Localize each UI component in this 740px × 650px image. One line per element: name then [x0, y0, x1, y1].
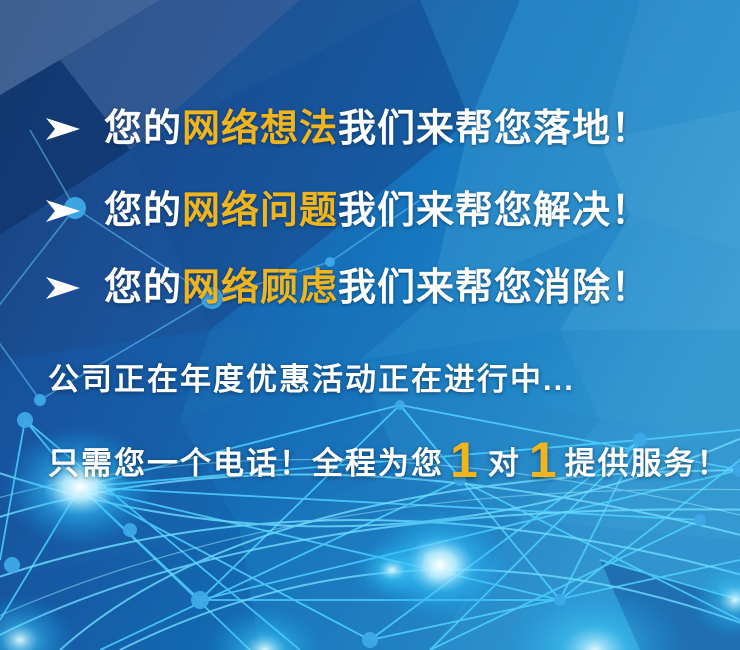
service-number-first: 1 [444, 435, 486, 485]
arrow-right-icon [44, 273, 84, 303]
headline-highlight-1: 网络想法 [182, 108, 338, 150]
headline-text-2: 您的网络问题我们来帮您解决！ [104, 192, 650, 230]
headline-row-3: 您的网络顾虑我们来帮您消除！ [44, 265, 650, 311]
arrow-right-icon [44, 114, 84, 144]
headline-prefix-3: 您的 [104, 267, 182, 309]
banner-content: 您的网络想法我们来帮您落地！ 您的网络问题我们来帮您解决！ 您的网络顾虑我们来帮… [0, 0, 740, 650]
headline-row-2: 您的网络问题我们来帮您解决！ [44, 188, 650, 234]
headline-suffix-2: 我们来帮您解决！ [338, 190, 650, 232]
subline-service-part-a: 只需您一个电话！全程为您 [48, 448, 444, 479]
headline-prefix-2: 您的 [104, 190, 182, 232]
subline-promo: 公司正在年度优惠活动正在进行中... [48, 364, 575, 395]
subline-service: 只需您一个电话！全程为您 1 对 1 提供服务！ [48, 432, 730, 482]
headline-row-1: 您的网络想法我们来帮您落地！ [44, 106, 650, 152]
subline-service-part-b: 提供服务！ [565, 448, 730, 479]
headline-highlight-2: 网络问题 [182, 190, 338, 232]
headline-text-3: 您的网络顾虑我们来帮您消除！ [104, 269, 650, 307]
service-number-second: 1 [523, 435, 565, 485]
service-middle-word: 对 [486, 448, 523, 479]
headline-suffix-3: 我们来帮您消除！ [338, 267, 650, 309]
promo-banner: 您的网络想法我们来帮您落地！ 您的网络问题我们来帮您解决！ 您的网络顾虑我们来帮… [0, 0, 740, 650]
arrow-right-icon [44, 196, 84, 226]
headline-highlight-3: 网络顾虑 [182, 267, 338, 309]
headline-prefix-1: 您的 [104, 108, 182, 150]
headline-suffix-1: 我们来帮您落地！ [338, 108, 650, 150]
headline-text-1: 您的网络想法我们来帮您落地！ [104, 110, 650, 148]
